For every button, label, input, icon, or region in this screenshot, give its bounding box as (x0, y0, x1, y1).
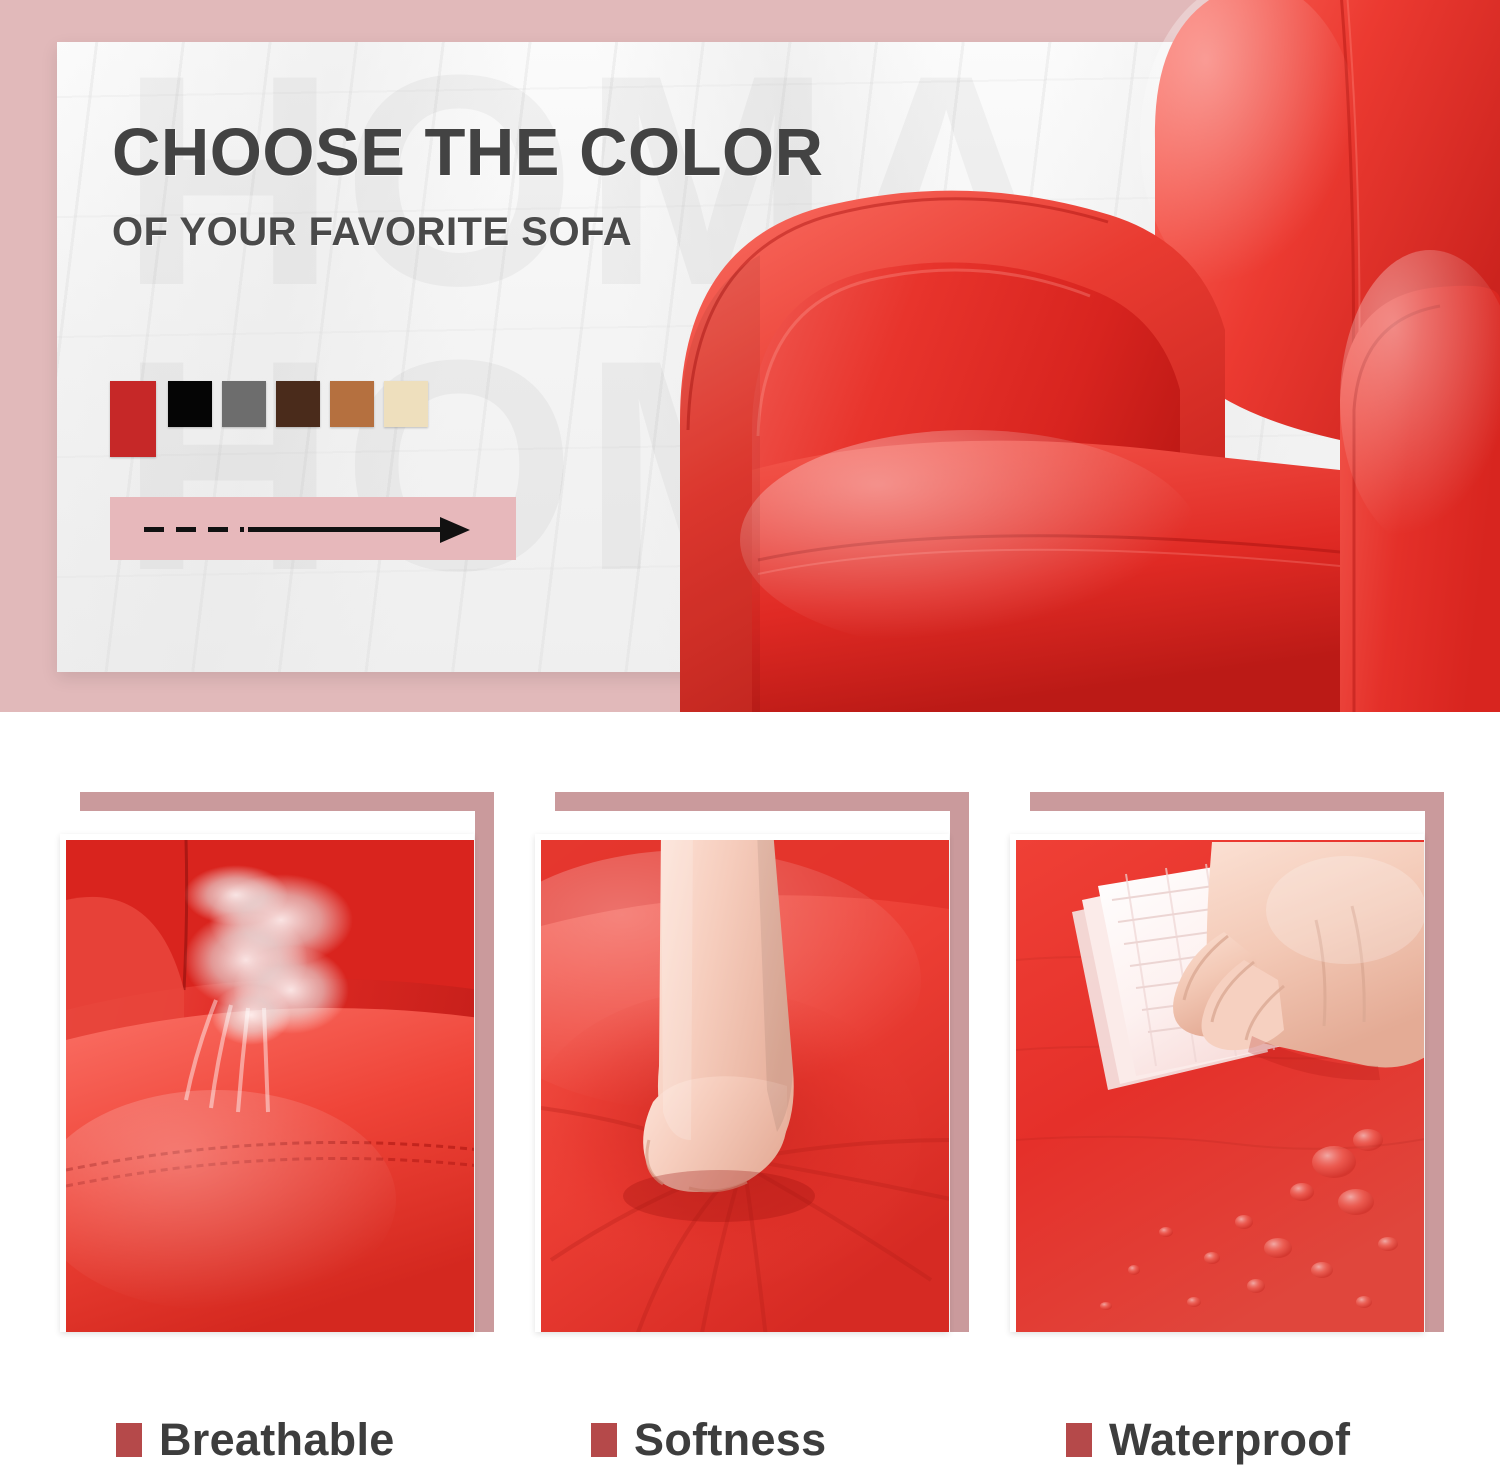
softness-photo (535, 834, 949, 1332)
color-swatch-list[interactable] (110, 381, 438, 457)
color-swatch-red[interactable] (110, 381, 156, 457)
feature-card-softness[interactable]: Softness (535, 792, 969, 1352)
page-title: CHOOSE THE COLOR (112, 118, 972, 188)
feature-caption: Softness (591, 1414, 826, 1466)
arrow-dashed-segment (144, 527, 244, 532)
color-swatch-tan-brown[interactable] (330, 381, 374, 427)
hero-sofa-photo (640, 0, 1500, 712)
feature-caption: Waterproof (1066, 1414, 1350, 1466)
color-swatch-cream[interactable] (384, 381, 428, 427)
feature-label-breathable: Breathable (159, 1414, 395, 1466)
page-subtitle: OF YOUR FAVORITE SOFA (112, 210, 972, 255)
color-swatch-dark-brown[interactable] (276, 381, 320, 427)
arrow-head (440, 517, 470, 543)
hero-banner: HOMA HOM (0, 0, 1500, 712)
color-swatch-gray[interactable] (222, 381, 266, 427)
feature-caption: Breathable (116, 1414, 395, 1466)
feature-card-waterproof[interactable]: Waterproof (1010, 792, 1444, 1352)
color-swatch-black[interactable] (168, 381, 212, 427)
bullet-square-icon (591, 1423, 617, 1457)
waterproof-photo (1010, 834, 1424, 1332)
bullet-square-icon (116, 1423, 142, 1457)
color-slider-band[interactable] (110, 497, 516, 560)
feature-cards-section: Breathable (0, 712, 1500, 1433)
arrow-right-icon (144, 523, 484, 535)
arrow-solid-segment (248, 527, 444, 532)
hero-copy: CHOOSE THE COLOR OF YOUR FAVORITE SOFA (112, 118, 972, 255)
feature-label-softness: Softness (634, 1414, 826, 1466)
bullet-square-icon (1066, 1423, 1092, 1457)
feature-card-breathable[interactable]: Breathable (60, 792, 494, 1352)
feature-label-waterproof: Waterproof (1109, 1414, 1350, 1466)
breathable-photo (60, 834, 474, 1332)
